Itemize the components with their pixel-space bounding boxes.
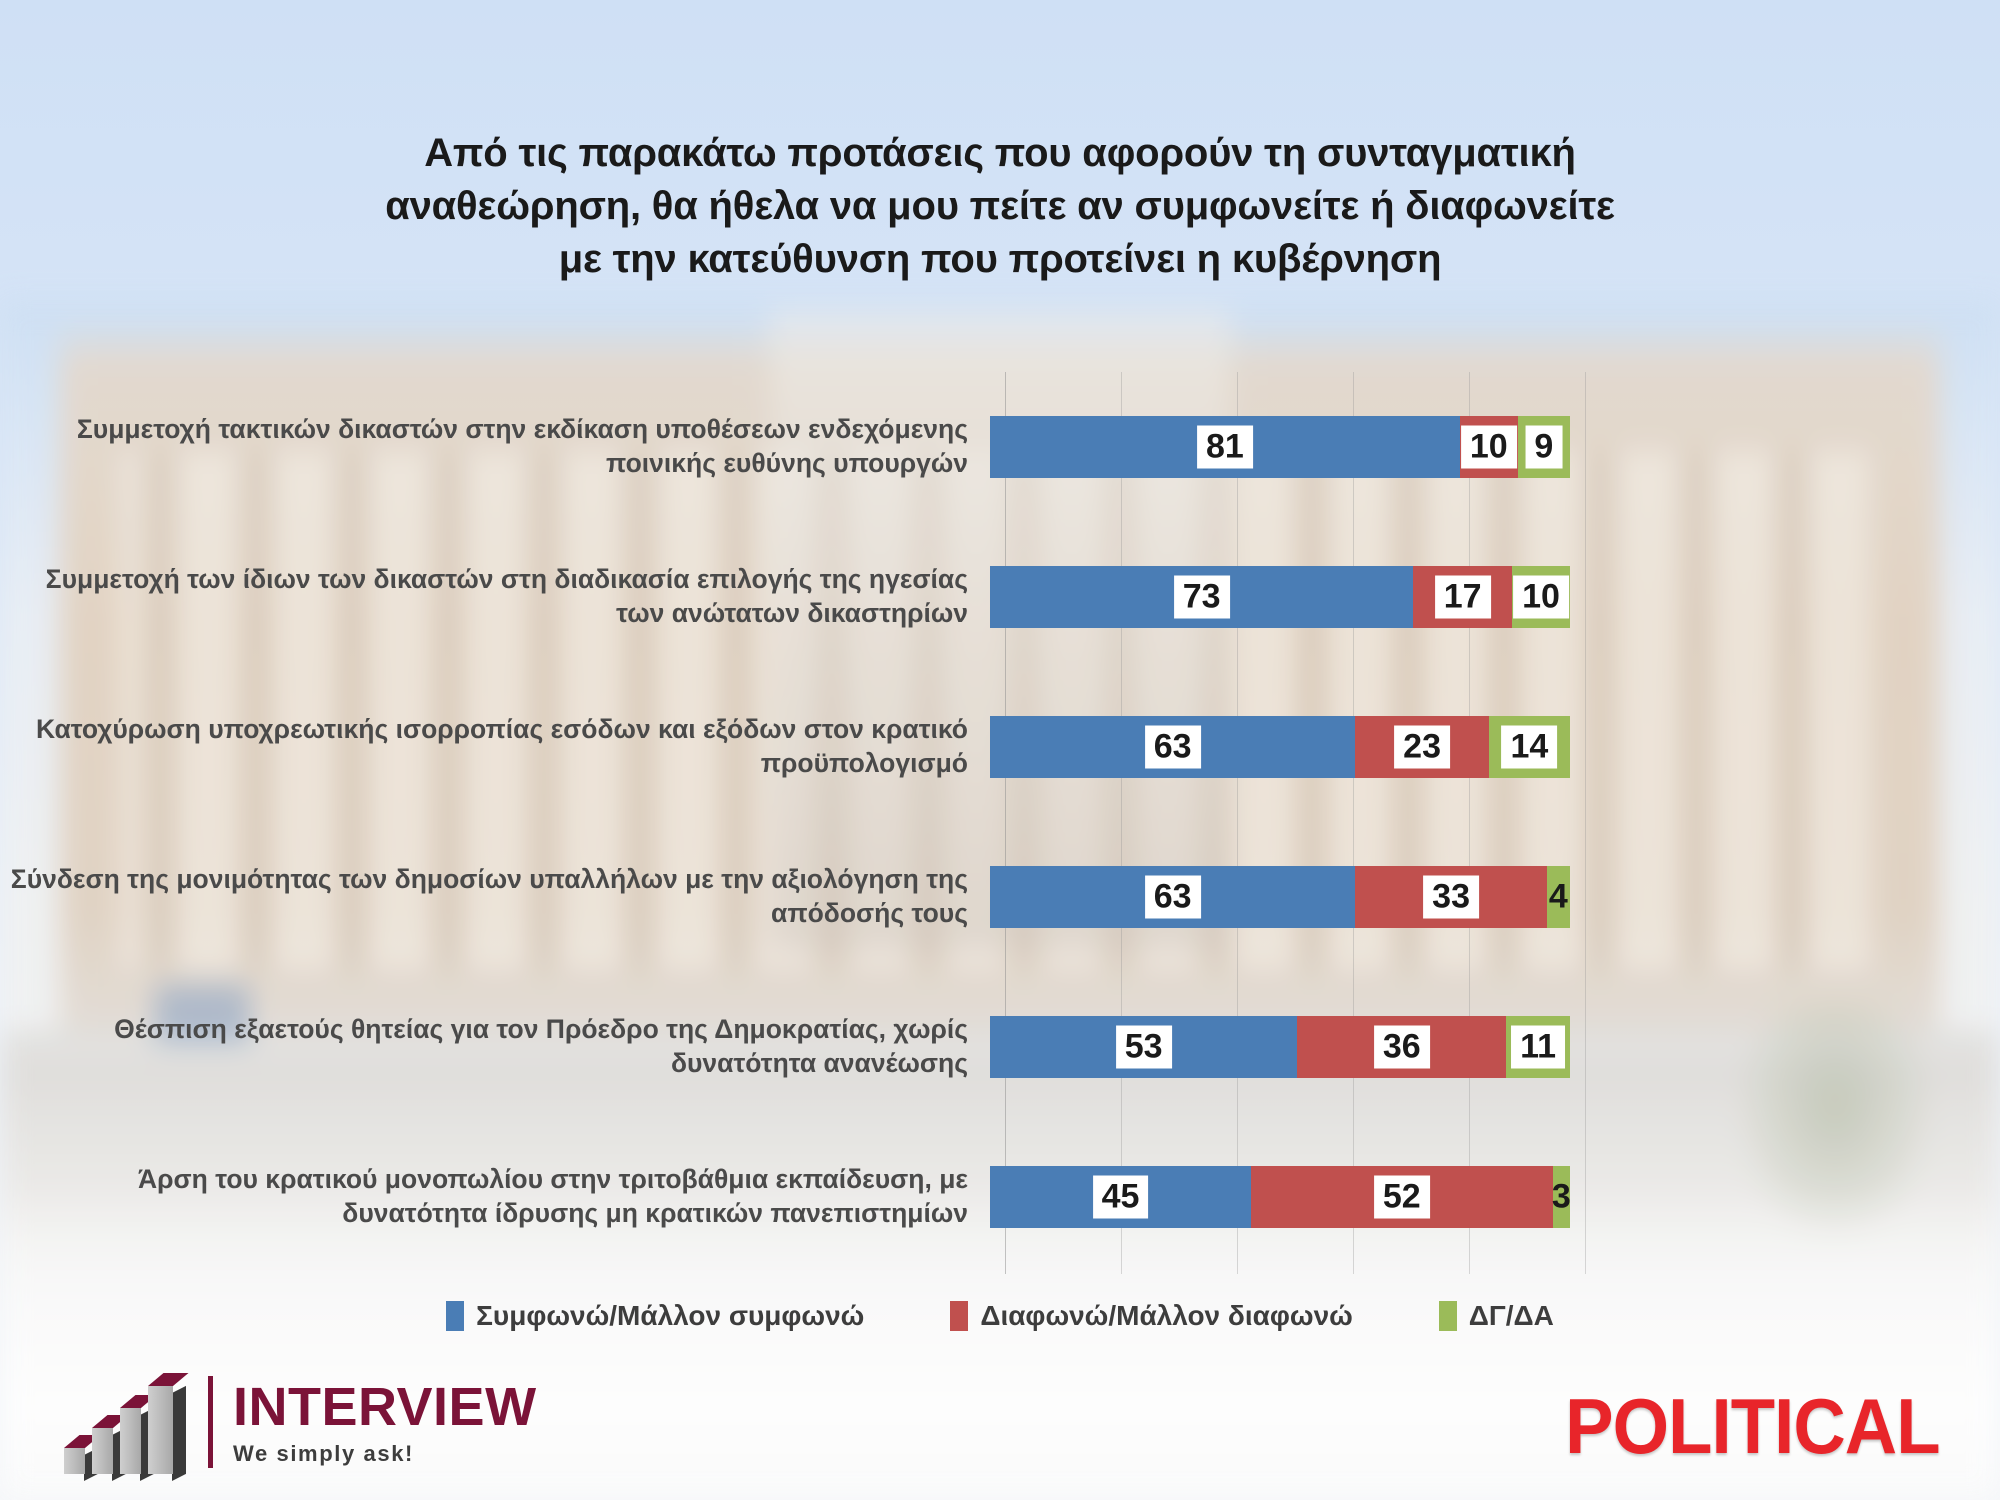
legend-item[interactable]: Διαφωνώ/Μάλλον διαφωνώ bbox=[950, 1300, 1352, 1332]
bar-value-label: 45 bbox=[1093, 1176, 1149, 1219]
legend-item[interactable]: Συμφωνώ/Μάλλον συμφωνώ bbox=[446, 1300, 864, 1332]
interview-bar-1 bbox=[64, 1448, 85, 1474]
category-label: Συμμετοχή τακτικών δικαστών στην εκδίκασ… bbox=[0, 413, 990, 481]
political-logo: POLITICAL bbox=[1566, 1381, 1940, 1472]
bar-value-label: 33 bbox=[1423, 876, 1479, 919]
legend-label: Συμφωνώ/Μάλλον συμφωνώ bbox=[476, 1300, 864, 1332]
bar-value-label: 9 bbox=[1525, 426, 1562, 469]
bar-value-label: 3 bbox=[1550, 1178, 1573, 1217]
bar-face bbox=[120, 1408, 141, 1474]
bar-value-label: 63 bbox=[1145, 726, 1201, 769]
title-line-3: με την κατεύθυνση που προτείνει η κυβέρν… bbox=[260, 233, 1740, 286]
bar-value-label: 73 bbox=[1174, 576, 1230, 619]
interview-bar-3 bbox=[120, 1408, 141, 1474]
legend-swatch-icon bbox=[950, 1301, 968, 1331]
bar-value-label: 10 bbox=[1513, 576, 1569, 619]
bar-value-label: 63 bbox=[1145, 876, 1201, 919]
bar-value-label: 17 bbox=[1435, 576, 1491, 619]
bar-face bbox=[92, 1428, 113, 1474]
bar-value-label: 10 bbox=[1461, 426, 1517, 469]
bar-row: Θέσπιση εξαετούς θητείας για τον Πρόεδρο… bbox=[0, 972, 2000, 1122]
bar-track: 45523 bbox=[990, 1166, 1570, 1228]
bar-value-label: 81 bbox=[1197, 426, 1253, 469]
bar-value-label: 11 bbox=[1511, 1026, 1565, 1069]
bar-track: 632314 bbox=[990, 716, 1570, 778]
stacked-bar-chart: Συμμετοχή τακτικών δικαστών στην εκδίκασ… bbox=[0, 350, 2000, 1290]
bar-row: Άρση του κρατικού μονοπωλίου στην τριτοβ… bbox=[0, 1122, 2000, 1272]
bar-track: 81109 bbox=[990, 416, 1570, 478]
bar-track: 63334 bbox=[990, 866, 1570, 928]
bar-track: 731710 bbox=[990, 566, 1570, 628]
legend-label: ΔΓ/ΔΑ bbox=[1469, 1300, 1554, 1332]
interview-name: INTERVIEW bbox=[233, 1380, 537, 1434]
interview-logo: INTERVIEW We simply ask! bbox=[64, 1366, 537, 1478]
category-label: Συμμετοχή των ίδιων των δικαστών στη δια… bbox=[0, 563, 990, 631]
bar-top bbox=[148, 1373, 188, 1386]
bar-value-label: 52 bbox=[1374, 1176, 1430, 1219]
legend-swatch-icon bbox=[1439, 1301, 1457, 1331]
bar-value-label: 23 bbox=[1394, 726, 1450, 769]
bar-value-label: 36 bbox=[1374, 1026, 1430, 1069]
legend-item[interactable]: ΔΓ/ΔΑ bbox=[1439, 1300, 1554, 1332]
legend-label: Διαφωνώ/Μάλλον διαφωνώ bbox=[980, 1300, 1352, 1332]
bar-row: Συμμετοχή τακτικών δικαστών στην εκδίκασ… bbox=[0, 372, 2000, 522]
bar-face bbox=[64, 1448, 85, 1474]
title-line-1: Από τις παρακάτω προτάσεις που αφορούν τ… bbox=[260, 127, 1740, 180]
bar-value-label: 4 bbox=[1547, 878, 1570, 917]
slide-canvas: Από τις παρακάτω προτάσεις που αφορούν τ… bbox=[0, 0, 2000, 1500]
interview-tagline: We simply ask! bbox=[233, 1443, 537, 1465]
category-label: Σύνδεση της μονιμότητας των δημοσίων υπα… bbox=[0, 863, 990, 931]
bar-face bbox=[148, 1386, 173, 1474]
title-line-2: αναθεώρηση, θα ήθελα να μου πείτε αν συμ… bbox=[260, 180, 1740, 233]
page-title: Από τις παρακάτω προτάσεις που αφορούν τ… bbox=[260, 127, 1740, 287]
interview-bar-4 bbox=[148, 1386, 173, 1474]
bar-value-label: 53 bbox=[1116, 1026, 1172, 1069]
logo-divider bbox=[208, 1376, 213, 1468]
bar-row: Σύνδεση της μονιμότητας των δημοσίων υπα… bbox=[0, 822, 2000, 972]
category-label: Άρση του κρατικού μονοπωλίου στην τριτοβ… bbox=[0, 1163, 990, 1231]
bar-row: Συμμετοχή των ίδιων των δικαστών στη δια… bbox=[0, 522, 2000, 672]
bar-track: 533611 bbox=[990, 1016, 1570, 1078]
legend-swatch-icon bbox=[446, 1301, 464, 1331]
bar-value-label: 14 bbox=[1501, 726, 1557, 769]
interview-logo-text: INTERVIEW We simply ask! bbox=[233, 1380, 537, 1465]
category-label: Κατοχύρωση υποχρεωτικής ισορροπίας εσόδω… bbox=[0, 713, 990, 781]
bar-row: Κατοχύρωση υποχρεωτικής ισορροπίας εσόδω… bbox=[0, 672, 2000, 822]
bar-side bbox=[172, 1386, 186, 1481]
interview-bar-2 bbox=[92, 1428, 113, 1474]
category-label: Θέσπιση εξαετούς θητείας για τον Πρόεδρο… bbox=[0, 1013, 990, 1081]
chart-legend: Συμφωνώ/Μάλλον συμφωνώΔιαφωνώ/Μάλλον δια… bbox=[0, 1300, 2000, 1332]
interview-bars-icon bbox=[64, 1370, 192, 1474]
